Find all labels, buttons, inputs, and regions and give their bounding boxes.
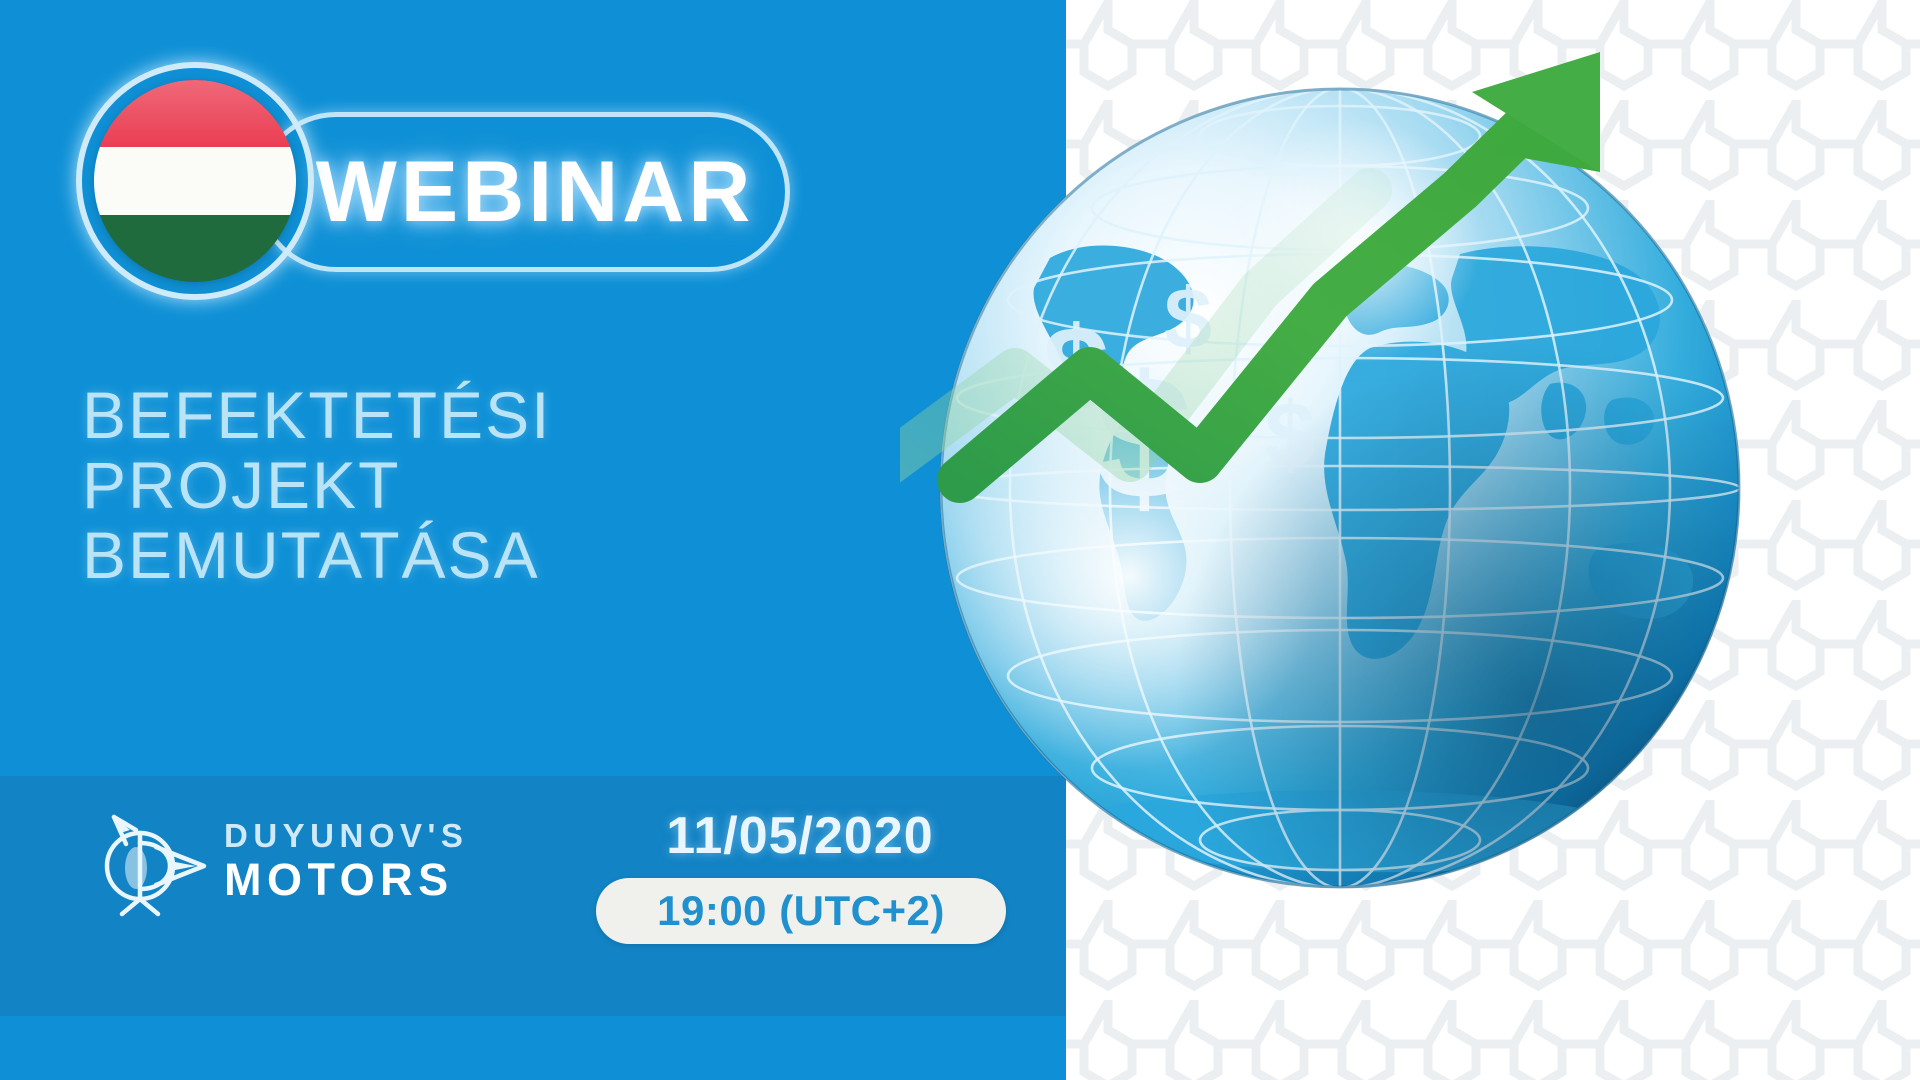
flag-ring-outline xyxy=(76,62,314,300)
brand-logo-text: DUYUNOV'S MOTORS xyxy=(224,816,468,904)
page-title: BEFEKTETÉSI PROJEKT BEMUTATÁSA xyxy=(82,380,702,590)
brand-name-line-1: DUYUNOV'S xyxy=(224,816,468,856)
brand-name-line-2: MOTORS xyxy=(224,856,468,904)
green-growth-arrow-icon xyxy=(900,40,1800,900)
hungary-flag-badge xyxy=(76,62,314,300)
duyunov-motors-logo-icon xyxy=(96,806,212,924)
title-line-1: BEFEKTETÉSI xyxy=(82,380,702,450)
title-line-3: BEMUTATÁSA xyxy=(82,520,702,590)
brand-logo: DUYUNOV'S MOTORS xyxy=(96,800,516,930)
left-panel-footer-strip xyxy=(0,1016,1066,1080)
webinar-banner: WEBINAR BEFEKTETÉSI PROJEKT BEMUTATÁSA xyxy=(0,0,1920,1080)
webinar-label: WEBINAR xyxy=(300,128,770,256)
title-line-2: PROJEKT xyxy=(82,450,702,520)
